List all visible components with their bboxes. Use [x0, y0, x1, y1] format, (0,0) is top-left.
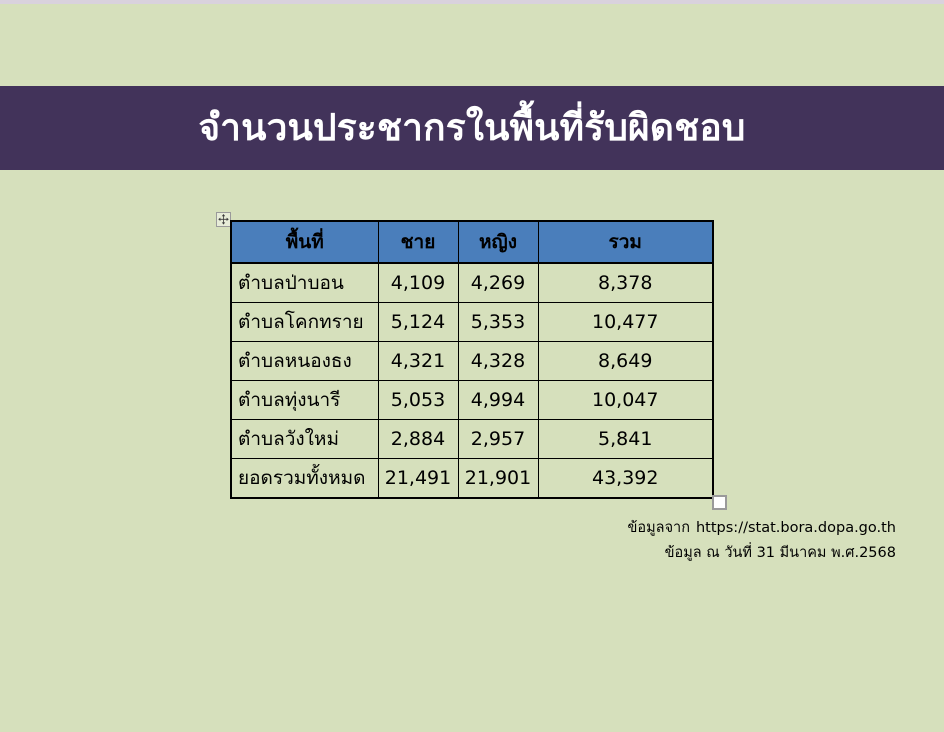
footnote-source-url[interactable]: https://stat.bora.dopa.go.th [696, 520, 896, 536]
title-banner: จำนวนประชากรในพื้นที่รับผิดชอบ [0, 86, 944, 170]
table-row[interactable]: ตำบลโคกทราย 5,124 5,353 10,477 [231, 303, 713, 342]
cell-total: 8,378 [538, 263, 713, 303]
population-table-wrapper[interactable]: พื้นที่ ชาย หญิง รวม ตำบลป่าบอน 4,109 4,… [230, 220, 712, 499]
cell-total: 8,649 [538, 342, 713, 381]
column-header-area: พื้นที่ [231, 221, 378, 263]
cell-male: 2,884 [378, 420, 458, 459]
table-header-row: พื้นที่ ชาย หญิง รวม [231, 221, 713, 263]
footnote-as-of-date: ข้อมูล ณ วันที่ 31 มีนาคม พ.ศ.2568 [665, 541, 896, 564]
cell-area: ยอดรวมทั้งหมด [231, 459, 378, 499]
cell-area: ตำบลป่าบอน [231, 263, 378, 303]
cell-area: ตำบลวังใหม่ [231, 420, 378, 459]
page-title: จำนวนประชากรในพื้นที่รับผิดชอบ [198, 109, 745, 148]
table-row-total[interactable]: ยอดรวมทั้งหมด 21,491 21,901 43,392 [231, 459, 713, 499]
cell-area: ตำบลหนองธง [231, 342, 378, 381]
population-table[interactable]: พื้นที่ ชาย หญิง รวม ตำบลป่าบอน 4,109 4,… [230, 220, 714, 499]
cell-male: 4,321 [378, 342, 458, 381]
cell-female: 4,994 [458, 381, 538, 420]
cell-female: 2,957 [458, 420, 538, 459]
cell-female: 5,353 [458, 303, 538, 342]
cell-area: ตำบลโคกทราย [231, 303, 378, 342]
cell-female: 21,901 [458, 459, 538, 499]
column-header-male: ชาย [378, 221, 458, 263]
table-row[interactable]: ตำบลทุ่งนารี 5,053 4,994 10,047 [231, 381, 713, 420]
table-row[interactable]: ตำบลป่าบอน 4,109 4,269 8,378 [231, 263, 713, 303]
cell-male: 4,109 [378, 263, 458, 303]
footnote-source: ข้อมูลจากhttps://stat.bora.dopa.go.th [628, 516, 897, 539]
move-arrows-icon [218, 214, 229, 225]
cell-total: 5,841 [538, 420, 713, 459]
cell-male: 21,491 [378, 459, 458, 499]
column-header-total: รวม [538, 221, 713, 263]
cell-male: 5,053 [378, 381, 458, 420]
cell-total: 10,477 [538, 303, 713, 342]
cell-female: 4,328 [458, 342, 538, 381]
cell-total: 43,392 [538, 459, 713, 499]
cell-male: 5,124 [378, 303, 458, 342]
table-move-handle[interactable] [216, 212, 231, 227]
footnote-source-label: ข้อมูลจาก [628, 520, 690, 536]
table-row[interactable]: ตำบลหนองธง 4,321 4,328 8,649 [231, 342, 713, 381]
column-header-female: หญิง [458, 221, 538, 263]
table-row[interactable]: ตำบลวังใหม่ 2,884 2,957 5,841 [231, 420, 713, 459]
cell-area: ตำบลทุ่งนารี [231, 381, 378, 420]
table-resize-handle[interactable] [712, 495, 727, 510]
slide-canvas: จำนวนประชากรในพื้นที่รับผิดชอบ พื้นที่ ช… [0, 4, 944, 732]
cell-female: 4,269 [458, 263, 538, 303]
cell-total: 10,047 [538, 381, 713, 420]
